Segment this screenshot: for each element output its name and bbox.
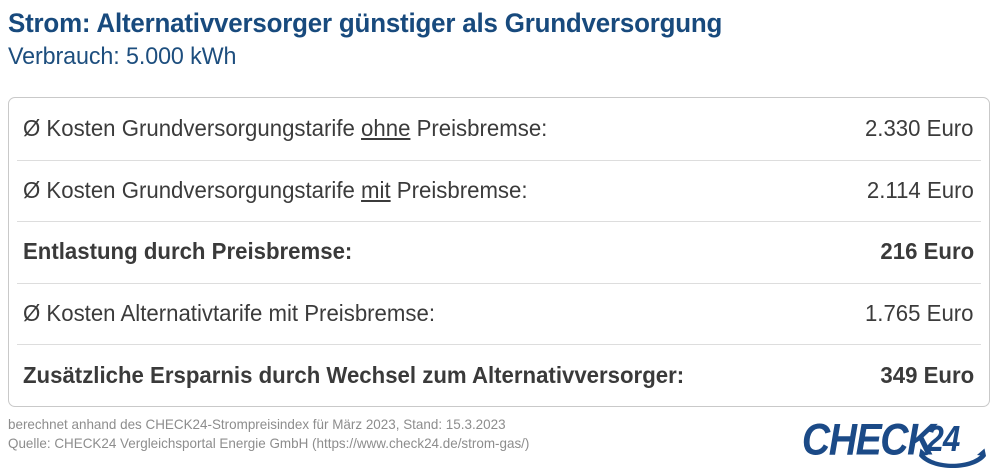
row-label: Ø Kosten Grundversorgungstarife mit Prei… <box>23 177 528 204</box>
footer-line-calculation: berechnet anhand des CHECK24-Strompreisi… <box>8 415 680 434</box>
table-row: Ø Kosten Grundversorgungstarife ohne Pre… <box>9 98 989 160</box>
row-label-post: Preisbremse: <box>391 177 528 203</box>
row-label-pre: Ø Kosten Grundversorgungstarife <box>23 115 361 141</box>
page-title: Strom: Alternativversorger günstiger als… <box>8 0 953 40</box>
row-label-post: Preisbremse: <box>410 115 547 141</box>
row-label: Ø Kosten Grundversorgungstarife ohne Pre… <box>23 115 547 142</box>
cost-comparison-table: Ø Kosten Grundversorgungstarife ohne Pre… <box>8 97 990 407</box>
row-value: 216 Euro <box>880 238 974 265</box>
header: Strom: Alternativversorger günstiger als… <box>8 0 992 72</box>
check24-logo-number: 24 <box>925 421 960 460</box>
check24-logo-wordmark: CHECK <box>802 421 938 464</box>
table-row-highlight: Entlastung durch Preisbremse: 216 Euro <box>9 221 989 283</box>
check24-logo: CHECK 24 <box>798 421 990 471</box>
table-row: Ø Kosten Alternativtarife mit Preisbrems… <box>9 283 989 345</box>
row-label-emphasis: ohne <box>361 115 410 141</box>
page-subtitle: Verbrauch: 5.000 kWh <box>8 40 962 72</box>
row-label: Ø Kosten Alternativtarife mit Preisbrems… <box>23 300 435 327</box>
row-label-pre: Ø Kosten Grundversorgungstarife <box>23 177 361 203</box>
check24-logo-icon: CHECK 24 <box>798 421 990 471</box>
row-label: Entlastung durch Preisbremse: <box>23 238 352 265</box>
row-value: 2.330 Euro <box>865 115 974 142</box>
table-row-highlight: Zusätzliche Ersparnis durch Wechsel zum … <box>9 344 989 406</box>
row-value: 2.114 Euro <box>867 177 974 204</box>
footer-note: berechnet anhand des CHECK24-Strompreisi… <box>8 415 708 453</box>
row-value: 349 Euro <box>880 362 974 389</box>
footer-line-source: Quelle: CHECK24 Vergleichsportal Energie… <box>8 434 680 453</box>
row-label: Zusätzliche Ersparnis durch Wechsel zum … <box>23 362 684 389</box>
row-value: 1.765 Euro <box>865 300 974 327</box>
row-label-emphasis: mit <box>361 177 391 203</box>
table-row: Ø Kosten Grundversorgungstarife mit Prei… <box>9 160 989 222</box>
